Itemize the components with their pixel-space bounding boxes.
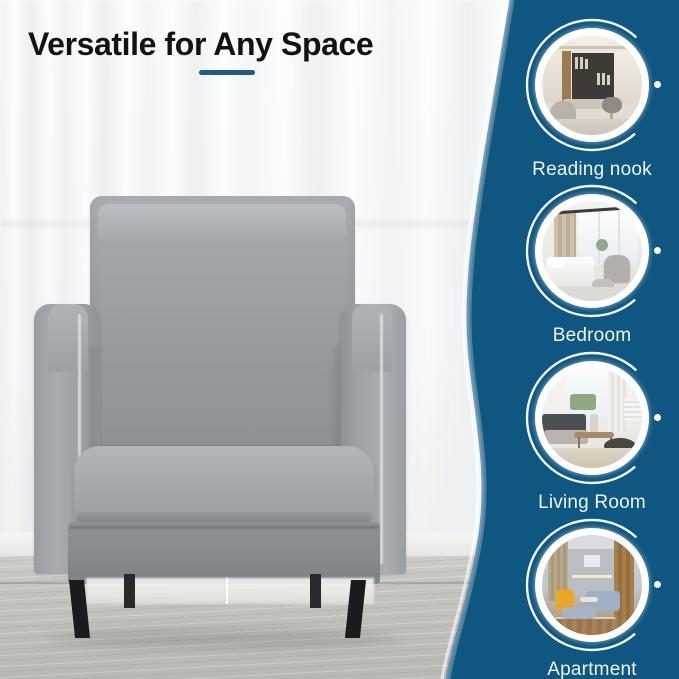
circle-badge-living-room: [524, 350, 660, 486]
use-case-label-bedroom: Bedroom: [505, 325, 679, 347]
infographic-canvas: Reading nook: [0, 0, 679, 679]
armchair: [28, 196, 408, 626]
chair-seat-edge: [76, 512, 372, 522]
arc-end-dot-icon: [654, 81, 661, 88]
chair-leg-rear-left: [124, 574, 135, 608]
arc-end-dot-icon: [654, 581, 661, 588]
arc-end-dot-icon: [654, 414, 661, 421]
use-case-list: Reading nook: [505, 0, 679, 679]
product-photo: [0, 0, 560, 679]
circle-badge-reading-nook: [524, 17, 660, 153]
chair-arm-cap-right: [352, 304, 392, 372]
arc-end-dot-icon: [654, 247, 661, 254]
circle-badge-apartment: [524, 517, 660, 653]
thumbnail-reading-nook: [542, 35, 642, 135]
circle-badge-bedroom: [524, 183, 660, 319]
chair-base-skirt: [68, 522, 380, 584]
chair-backrest-highlight: [98, 204, 346, 244]
chair-arm-piping-right: [380, 314, 383, 564]
use-case-label-reading-nook: Reading nook: [505, 159, 679, 181]
use-case-label-apartment: Apartment: [505, 659, 679, 679]
page-title: Versatile for Any Space: [28, 26, 373, 63]
chair-skirt-seam: [70, 526, 378, 529]
thumbnail-bedroom: [542, 201, 642, 301]
chair-arm-cap-left: [48, 304, 88, 372]
use-case-label-living-room: Living Room: [505, 492, 679, 514]
under-chair-floor-line: [226, 578, 228, 604]
title-accent-underline: [199, 70, 255, 75]
thumbnail-apartment: [542, 535, 642, 635]
chair-leg-rear-right: [310, 574, 321, 608]
thumbnail-living-room: [542, 368, 642, 468]
